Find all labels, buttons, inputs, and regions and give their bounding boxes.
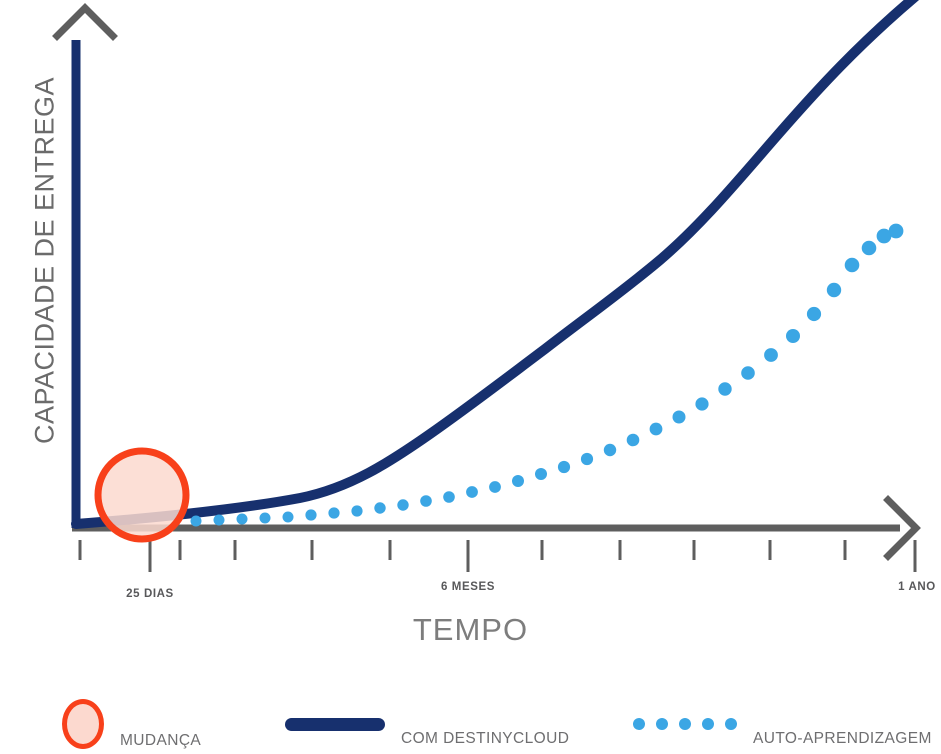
legend-label-auto-aprendizagem: AUTO-APRENDIZAGEM [753,730,932,754]
legend-item-mudanca: MUDANÇA [62,694,201,754]
y-axis-arrow-icon [57,8,113,36]
legend-circle-highlight-icon [62,699,104,749]
legend-solid-line-icon [285,718,385,731]
mudanca-highlight-circle [98,451,186,539]
legend-label-com-destinycloud: COM DESTINYCLOUD [401,730,569,754]
x-axis-title: TEMPO [0,612,941,648]
x-tick-label-6-meses: 6 MESES [441,581,495,593]
series-auto-aprendizagem [191,224,904,527]
legend-label-mudanca: MUDANÇA [120,732,201,754]
x-tick-label-1-ano: 1 ANO [898,581,936,593]
legend-item-auto-aprendizagem: AUTO-APRENDIZAGEM [633,694,932,754]
legend-item-com-destinycloud: COM DESTINYCLOUD [285,694,569,754]
chart-legend: MUDANÇA COM DESTINYCLOUD AUTO-APRENDIZAG… [0,694,941,754]
series-com-destinycloud [76,0,928,524]
y-axis-title: CAPACIDADE DE ENTREGA [30,11,61,511]
chart-canvas: CAPACIDADE DE ENTREGA TEMPO 25 DIAS 6 ME… [0,0,941,754]
x-axis-major-ticks [150,540,915,572]
legend-dotted-line-icon [633,718,737,731]
x-axis-ticks [80,540,845,560]
x-tick-label-25-dias: 25 DIAS [126,588,174,600]
